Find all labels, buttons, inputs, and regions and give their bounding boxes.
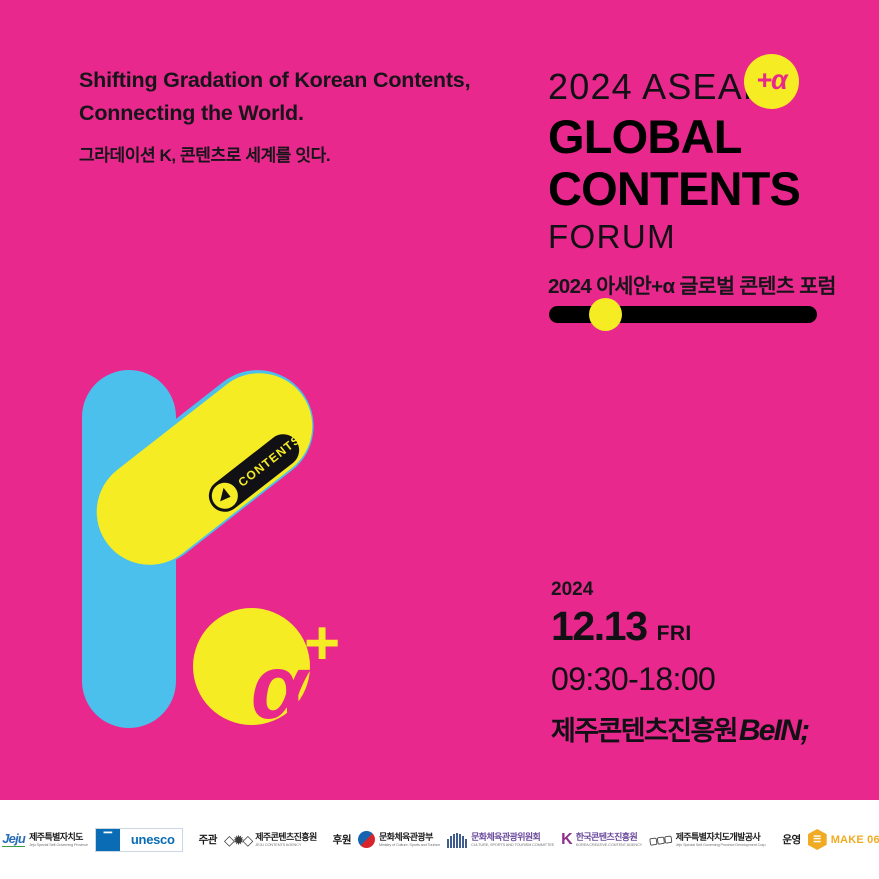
logo-name: 제주콘텐츠진흥원: [255, 832, 316, 842]
logo-text-stack: 문화체육관광부 Ministry of Culture, Sports and …: [379, 832, 440, 848]
unesco-temple-icon: ▔: [96, 829, 120, 851]
logo-jeju-development: ▢▢▢ 제주특별자치도개발공사 Jeju Special Self-Govern…: [649, 832, 766, 848]
play-triangle-icon: [220, 488, 232, 504]
logo-text-stack: 제주특별자치도개발공사 Jeju Special Self-Governing …: [676, 832, 767, 848]
headline-line-1: Shifting Gradation of Korean Contents,: [79, 64, 499, 97]
title-korean-subtitle: 2024 아세안+α 글로벌 콘텐츠 포럼: [548, 269, 838, 299]
alpha-glyph: α: [251, 642, 304, 733]
headline-korean: 그라데이션 K, 콘텐츠로 세계를 잇다.: [79, 141, 499, 166]
headline-block: Shifting Gradation of Korean Contents, C…: [79, 64, 499, 166]
sponsor-group-operator: 운영 ☰ MAKE 064: [782, 829, 879, 850]
logo-jeju-contents-agency: ◇✹◇ 제주콘텐츠진흥원 JEJU CONTENTS AGENCY: [224, 832, 317, 848]
event-date: 12.13: [551, 603, 647, 649]
logo-subtitle: JEJU CONTENTS AGENCY: [255, 842, 316, 848]
logo-text-stack: 제주콘텐츠진흥원 JEJU CONTENTS AGENCY: [255, 832, 316, 848]
event-venue: 제주콘텐츠진흥원: [551, 709, 737, 748]
title-global: GLOBAL: [548, 111, 838, 163]
alpha-plus-glyph: +: [304, 613, 340, 675]
alpha-badge-icon: +α: [744, 54, 799, 109]
k-logo-graphic: CONTENTS α +: [60, 355, 410, 755]
sponsor-role-label: 운영: [782, 832, 800, 847]
wave-mark-icon: ◇✹◇: [224, 833, 251, 847]
logo-subtitle: Ministry of Culture, Sports and Tourism: [379, 842, 440, 848]
logo-jeju-province: Jeju 제주특별자치도 Jeju Special Self-Governing…: [2, 832, 88, 848]
logo-subtitle: Jeju Special Self-Governing Province: [29, 842, 88, 848]
logo-unesco: ▔ unesco: [95, 828, 183, 852]
sponsor-footer: 주최 Jeju 제주특별자치도 Jeju Special Self-Govern…: [0, 800, 879, 879]
sponsor-role-label: 주관: [199, 832, 217, 847]
logo-text-stack: 한국콘텐츠진흥원 KOREA CREATIVE CONTENT AGENCY: [576, 832, 642, 848]
logo-name: 문화체육관광부: [379, 832, 440, 842]
title-forum: FORUM: [548, 217, 838, 257]
slider-knob: [589, 298, 622, 331]
make-cube-icon: ☰: [808, 829, 827, 850]
logo-text-stack: 문화체육관광위원회 CULTURE, SPORTS AND TOURISM CO…: [471, 832, 554, 848]
title-block: 2024 ASEAN +α GLOBAL CONTENTS FORUM 2024…: [548, 66, 838, 299]
title-asean-text: 2024 ASEAN: [548, 66, 770, 107]
kocca-k-icon: K: [561, 833, 572, 847]
logo-name: 한국콘텐츠진흥원: [576, 832, 642, 842]
alpha-badge-label: +α: [756, 67, 787, 94]
logo-make064: ☰ MAKE 064: [808, 829, 879, 850]
sponsor-group-organizer: 주관 ◇✹◇ 제주콘텐츠진흥원 JEJU CONTENTS AGENCY: [199, 832, 317, 848]
sponsor-group-host: 주최 Jeju 제주특별자치도 Jeju Special Self-Govern…: [0, 828, 183, 852]
logo-subtitle: KOREA CREATIVE CONTENT AGENCY: [576, 842, 642, 848]
event-date-row: 12.13 FRI: [551, 603, 851, 649]
jeju-dev-scribble-icon: ▢▢▢: [649, 833, 673, 846]
unesco-wordmark: unesco: [124, 832, 182, 847]
title-asean: 2024 ASEAN +α: [548, 66, 838, 108]
event-venue-row: 제주콘텐츠진흥원 BeIN;: [551, 709, 851, 748]
headline-line-2: Connecting the World.: [79, 97, 499, 130]
logo-subtitle: Jeju Special Self-Governing Province Dev…: [676, 842, 767, 848]
poster-canvas: Shifting Gradation of Korean Contents, C…: [0, 0, 879, 879]
logo-name: 문화체육관광위원회: [471, 832, 554, 842]
event-time: 09:30-18:00: [551, 658, 851, 700]
jeju-wordmark-icon: Jeju: [2, 832, 25, 847]
logo-culture-committee: 문화체육관광위원회 CULTURE, SPORTS AND TOURISM CO…: [447, 831, 554, 849]
event-details-block: 2024 12.13 FRI 09:30-18:00 제주콘텐츠진흥원 BeIN…: [551, 578, 851, 748]
event-year: 2024: [551, 578, 851, 602]
event-weekday: FRI: [657, 622, 692, 646]
logo-subtitle: CULTURE, SPORTS AND TOURISM COMMITTEE: [471, 842, 554, 848]
logo-ministry-culture: 문화체육관광부 Ministry of Culture, Sports and …: [358, 831, 440, 848]
logo-kocca: K 한국콘텐츠진흥원 KOREA CREATIVE CONTENT AGENCY: [561, 832, 642, 848]
logo-name: 제주특별자치도개발공사: [676, 832, 767, 842]
assembly-columns-icon: [447, 831, 467, 849]
title-contents: CONTENTS: [548, 163, 838, 215]
taegeuk-icon: [358, 831, 375, 848]
sponsor-group-sponsor: 후원 문화체육관광부 Ministry of Culture, Sports a…: [333, 831, 767, 849]
logo-name: 제주특별자치도: [29, 832, 88, 842]
logo-text-stack: 제주특별자치도 Jeju Special Self-Governing Prov…: [29, 832, 88, 848]
logo-name: MAKE 064: [831, 834, 879, 846]
event-venue-brand: BeIN;: [739, 714, 808, 748]
slider-graphic: [549, 306, 817, 323]
sponsor-role-label: 후원: [333, 832, 351, 847]
